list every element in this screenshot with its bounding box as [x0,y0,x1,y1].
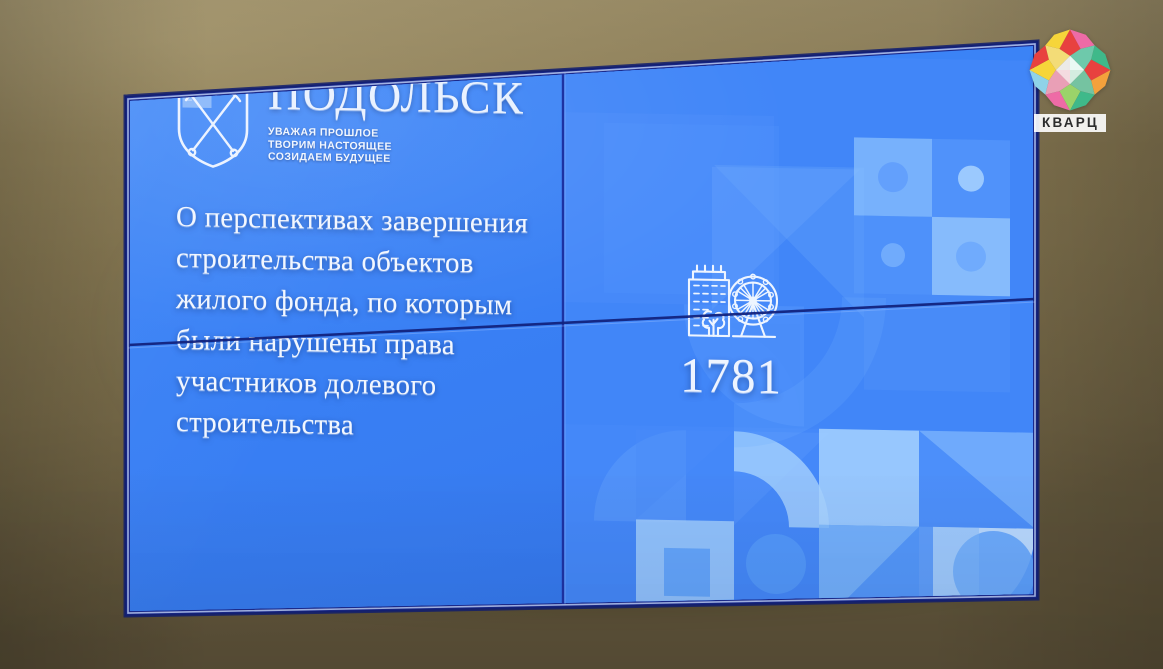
kvarts-crystal-logo-icon [1025,26,1115,114]
videowall-screen: ПОДОЛЬСК УВАЖАЯ ПРОШЛОЕ ТВОРИМ НАСТОЯЩЕЕ… [0,0,1163,669]
city-slogan: УВАЖАЯ ПРОШЛОЕ ТВОРИМ НАСТОЯЩЕЕ СОЗИДАЕМ… [268,126,548,169]
city-founding-year: 1781 [656,349,806,404]
broadcaster-name-label: КВАРЦ [1034,114,1106,132]
city-emblem: 1781 [656,259,806,412]
slide-right-panel: 1781 [564,52,1035,631]
slide-stage: ПОДОЛЬСК УВАЖАЯ ПРОШЛОЕ ТВОРИМ НАСТОЯЩЕЕ… [128,44,1035,631]
slide-headline: О перспективах завершения строительства … [176,197,556,450]
broadcaster-watermark: КВАРЦ [1009,26,1131,138]
city-skyline-ferris-wheel-icon [675,259,787,345]
slide-left-panel: ПОДОЛЬСК УВАЖАЯ ПРОШЛОЕ ТВОРИМ НАСТОЯЩЕЕ… [128,44,564,622]
presentation-slide: ПОДОЛЬСК УВАЖАЯ ПРОШЛОЕ ТВОРИМ НАСТОЯЩЕЕ… [128,44,1035,631]
